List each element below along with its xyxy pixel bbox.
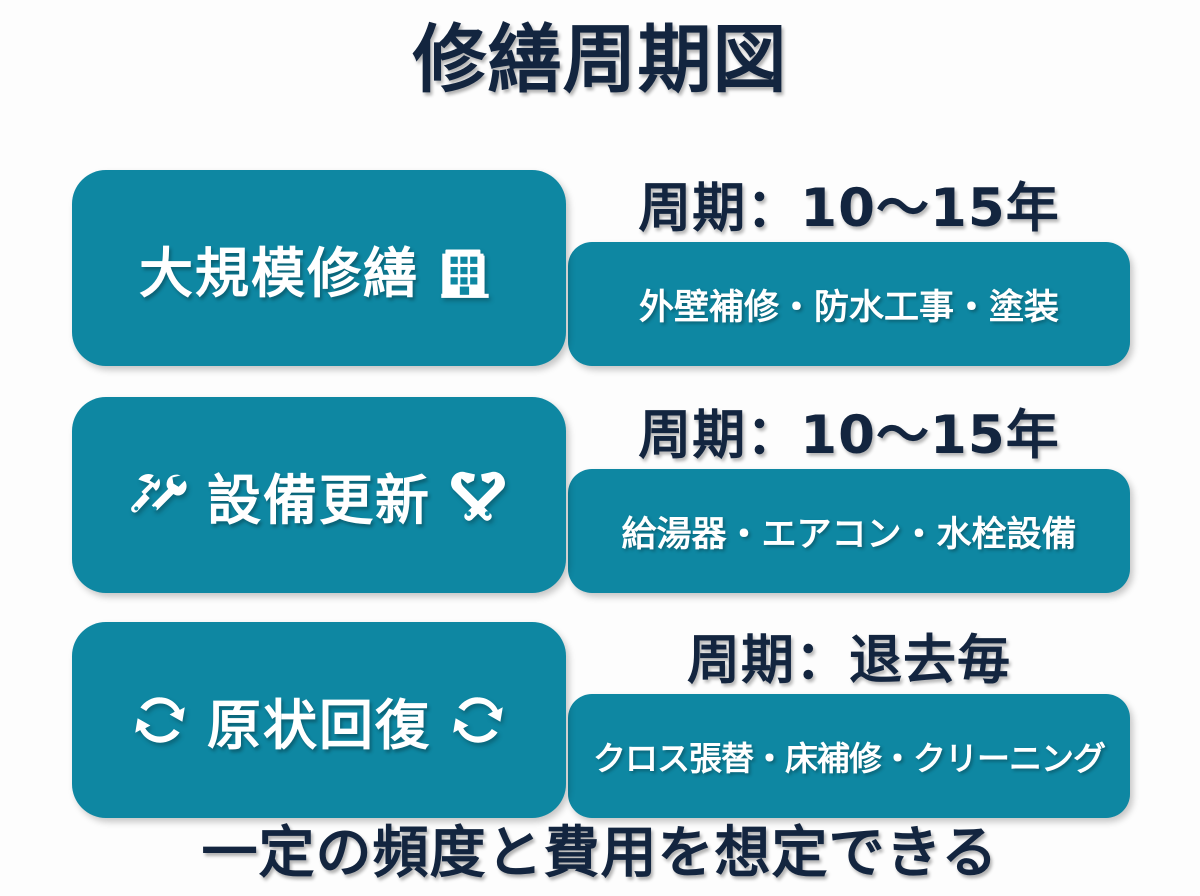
wrench-tools-icon	[445, 462, 511, 528]
detail-bar-equipment-renewal[interactable]: 給湯器・エアコン・水栓設備	[568, 469, 1130, 593]
category-pill-major-renovation[interactable]: 大規模修繕	[72, 170, 566, 366]
refresh-cycle-icon	[445, 687, 511, 753]
repair-row-major-renovation: 大規模修繕 周期：10〜15年 外壁補修・防水工事・塗装	[0, 170, 1200, 370]
detail-bar-major-renovation[interactable]: 外壁補修・防水工事・塗装	[568, 242, 1130, 366]
cycle-heading: 周期：10〜15年	[568, 166, 1130, 242]
cycle-heading: 周期：10〜15年	[568, 393, 1130, 469]
detail-items: クロス張替・床補修・クリーニング	[593, 732, 1105, 780]
category-label: 大規模修繕	[139, 229, 419, 308]
detail-items: 外壁補修・防水工事・塗装	[639, 279, 1059, 330]
summary-text: 一定の頻度と費用を想定できる	[0, 808, 1200, 889]
detail-items: 給湯器・エアコン・水栓設備	[621, 506, 1076, 557]
repair-row-restoration: 原状回復 周期：退去毎 クロス張替・床補修・クリーニング	[0, 622, 1200, 822]
category-label: 設備更新	[207, 456, 431, 535]
category-pill-restoration[interactable]: 原状回復	[72, 622, 566, 818]
category-label: 原状回復	[207, 681, 431, 760]
repair-row-equipment-renewal: 設備更新 周期：10〜15年 給湯器・エアコン・水栓設備	[0, 397, 1200, 597]
cycle-heading: 周期：退去毎	[568, 618, 1130, 694]
building-icon	[433, 235, 499, 301]
page-title: 修繕周期図	[0, 22, 1200, 100]
detail-bar-restoration[interactable]: クロス張替・床補修・クリーニング	[568, 694, 1130, 818]
refresh-cycle-icon	[127, 687, 193, 753]
category-pill-equipment-renewal[interactable]: 設備更新	[72, 397, 566, 593]
hammer-wrench-icon	[127, 462, 193, 528]
